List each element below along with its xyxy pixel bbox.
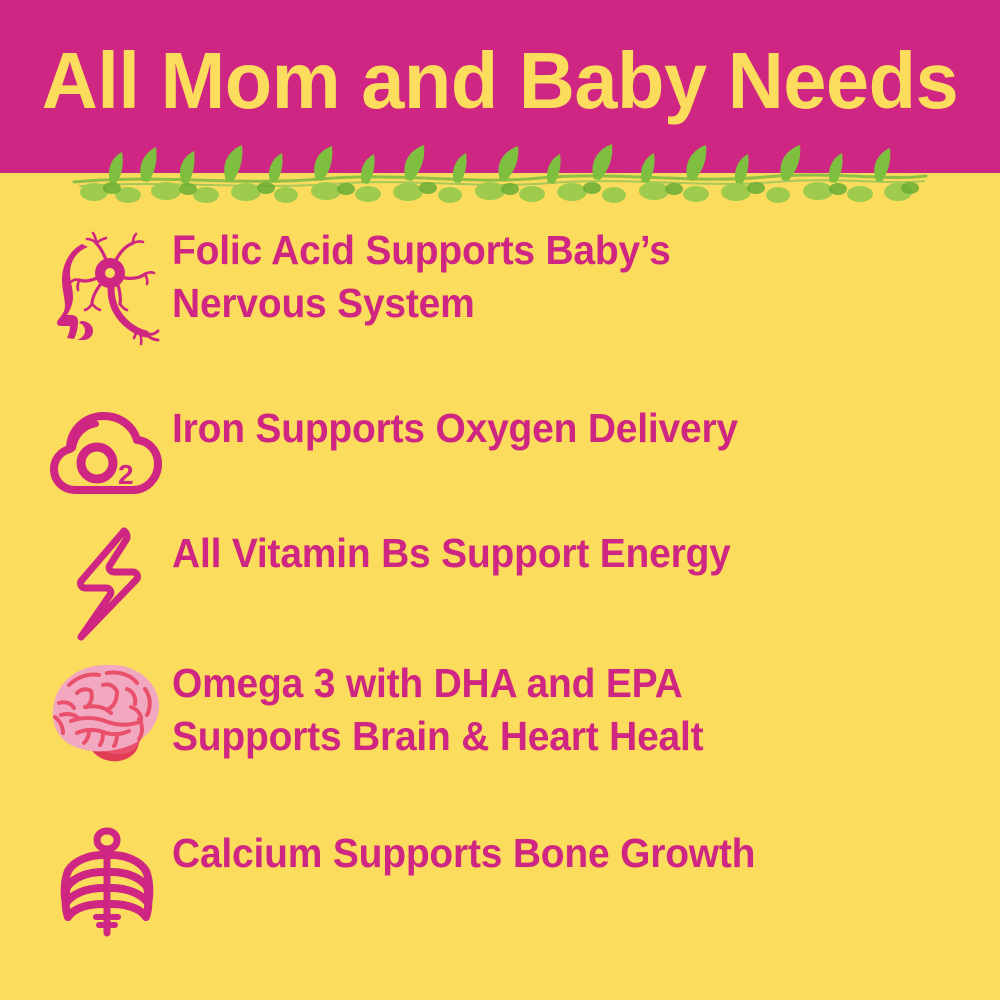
list-item: Calcium Supports Bone Growth bbox=[42, 825, 972, 937]
svg-text:2: 2 bbox=[118, 459, 134, 490]
brain-icon bbox=[42, 655, 172, 769]
list-item-label: Iron Supports Oxygen Delivery bbox=[172, 400, 738, 455]
list-item-label: Folic Acid Supports Baby’s Nervous Syste… bbox=[172, 222, 671, 330]
list-item: Omega 3 with DHA and EPA Supports Brain … bbox=[42, 655, 972, 769]
cloud-o2-icon: 2 bbox=[42, 400, 172, 508]
list-item-label: Calcium Supports Bone Growth bbox=[172, 825, 755, 880]
poster-canvas: All Mom and Baby Needs bbox=[0, 0, 1000, 1000]
list-item: 2 Iron Supports Oxygen Delivery bbox=[42, 400, 972, 508]
list-item-label: Omega 3 with DHA and EPA Supports Brain … bbox=[172, 655, 703, 763]
lightning-bolt-icon bbox=[42, 525, 172, 643]
list-item: All Vitamin Bs Support Energy bbox=[42, 525, 972, 643]
head-neuron-icon bbox=[42, 222, 172, 346]
list-item-label: All Vitamin Bs Support Energy bbox=[172, 525, 731, 580]
page-title: All Mom and Baby Needs bbox=[15, 38, 985, 124]
rib-cage-icon bbox=[42, 825, 172, 937]
list-item: Folic Acid Supports Baby’s Nervous Syste… bbox=[42, 222, 972, 346]
